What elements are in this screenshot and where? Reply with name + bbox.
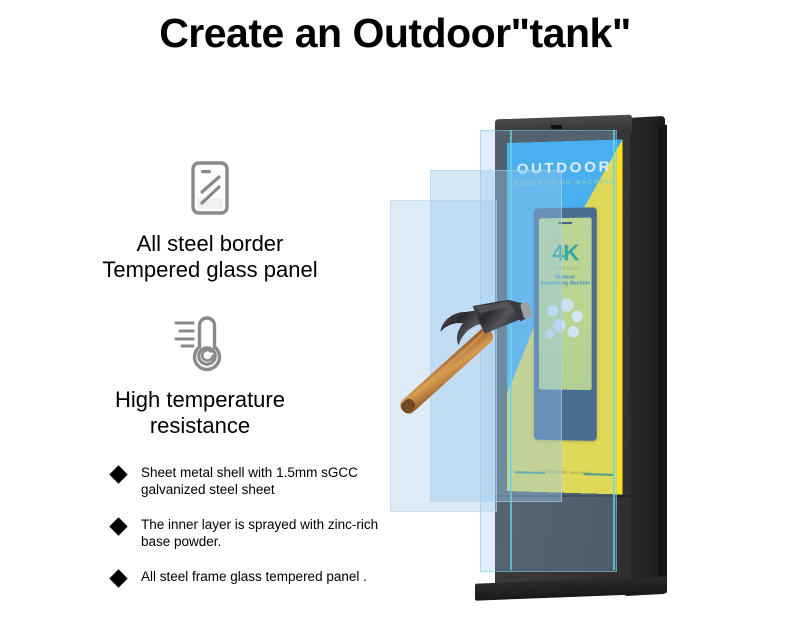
bullet-text: The inner layer is sprayed with zinc-ric…	[141, 516, 378, 550]
thermometer-icon	[20, 310, 380, 377]
diamond-bullet-icon	[109, 517, 127, 535]
bullet-text: Sheet metal shell with 1.5mm sGCC galvan…	[141, 464, 358, 498]
diamond-bullet-icon	[109, 569, 127, 587]
glass-edge-highlight	[613, 130, 615, 570]
kiosk-sensor-icon	[551, 125, 562, 129]
feature-label: High temperature resistance	[20, 387, 380, 439]
feature-label: All steel border Tempered glass panel	[30, 231, 390, 283]
kiosk-side-edge	[658, 125, 667, 588]
feature-high-temperature: High temperature resistance	[20, 310, 380, 439]
kiosk-product-scene: OUTDOOR ADVERTISING MACHINE 4K Ultra HD …	[370, 95, 790, 615]
bullet-text: All steel frame glass tempered panel .	[141, 568, 367, 585]
hammer-icon	[375, 270, 555, 445]
feature-tempered-glass: All steel border Tempered glass panel	[30, 160, 390, 283]
tempered-glass-panel-icon	[30, 160, 390, 221]
diamond-bullet-icon	[109, 465, 127, 483]
page-title: Create an Outdoor"tank"	[0, 10, 790, 57]
